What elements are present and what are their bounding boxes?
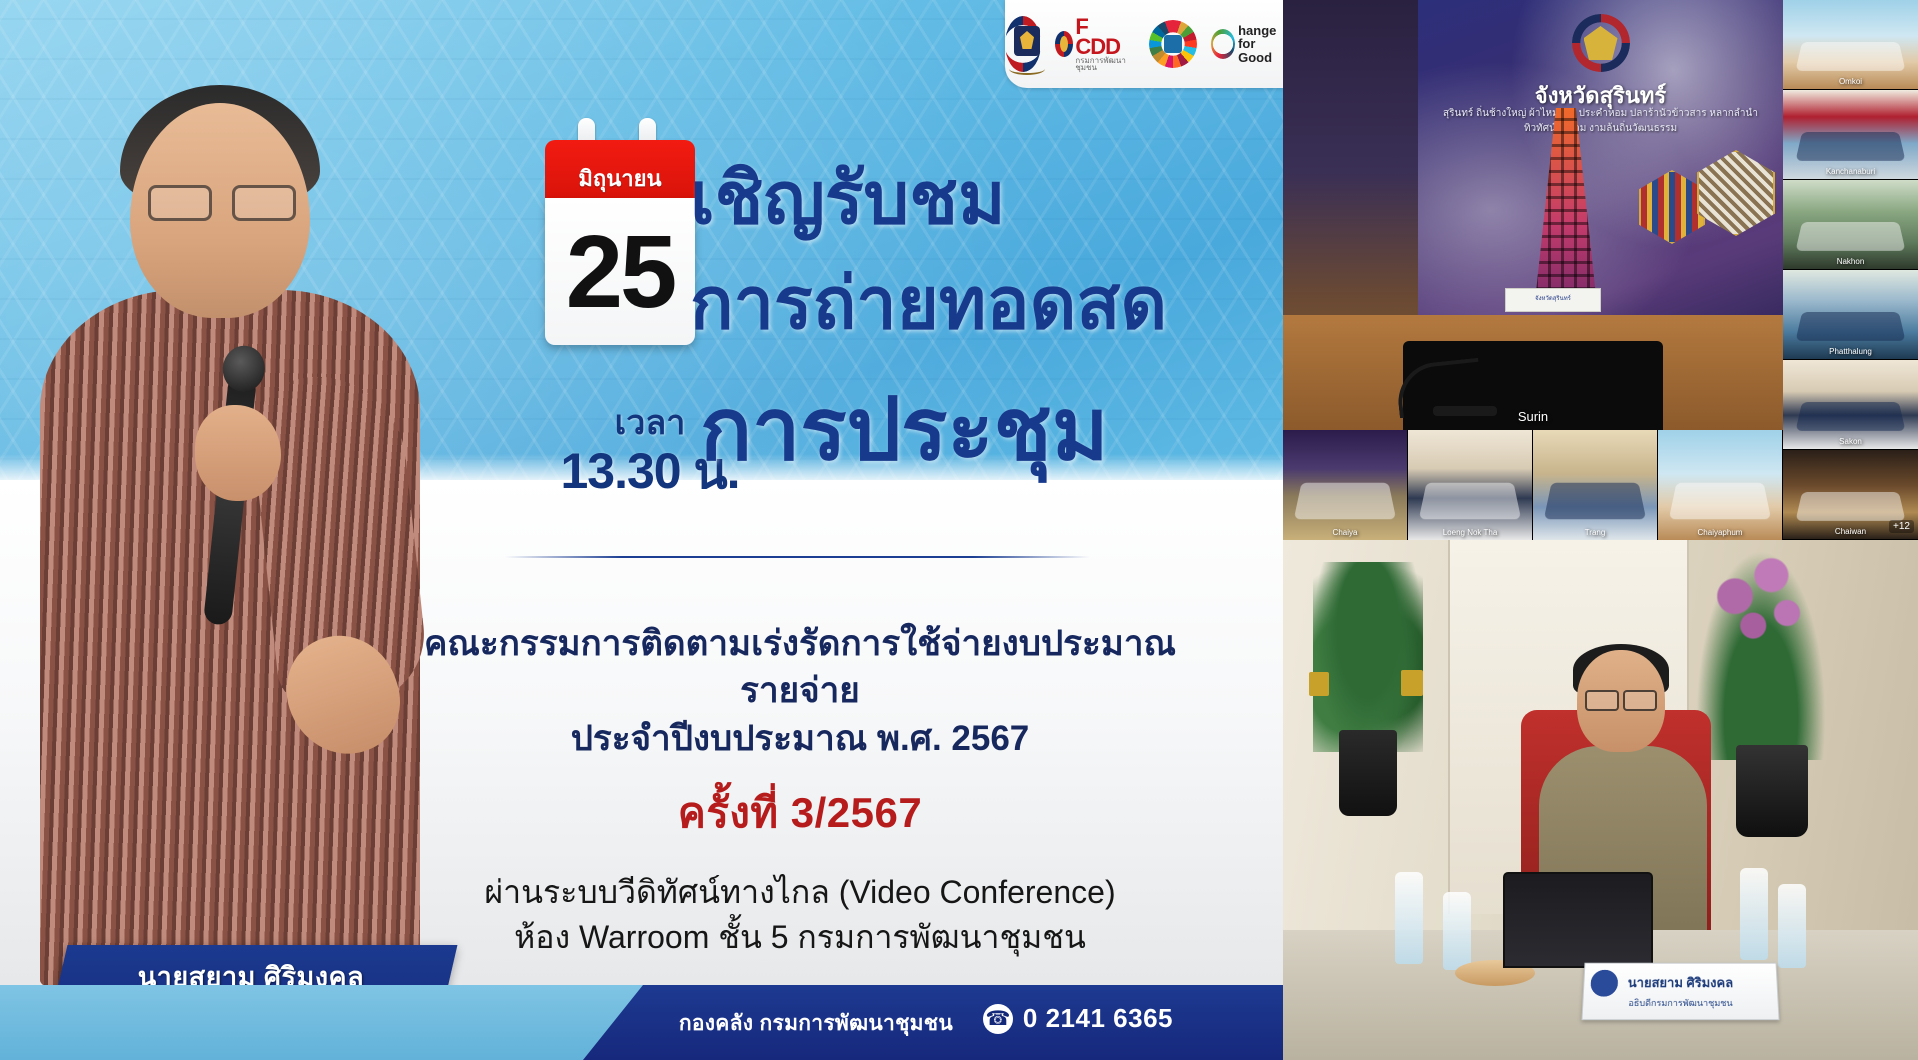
video-tile-column: Omkoi Kanchanaburi Nakhon Phatthalung Sa… <box>1783 0 1918 540</box>
calendar-day: 25 <box>566 220 675 323</box>
video-tile-row: Chaiya Loeng Nok Tha Trang Chaiyaphum <box>1283 430 1783 540</box>
video-tile-label: Chaiya <box>1283 528 1407 537</box>
desk-nameplate: นายสยาม ศิริมงคล อธิบดีกรมการพัฒนาชุมชน <box>1581 963 1779 1020</box>
water-bottle <box>1778 884 1806 968</box>
divider <box>505 556 1090 558</box>
surin-backdrop-sub: สุรินทร์ ถิ่นช้างใหญ่ ผ้าไหมงาม ประคำหอม… <box>1418 106 1783 136</box>
speaker-photo <box>20 75 440 985</box>
orchid-icon <box>1696 550 1826 760</box>
video-tile[interactable]: Kanchanaburi <box>1783 90 1918 180</box>
phone-icon <box>983 1004 1013 1034</box>
water-bottle <box>1740 868 1768 960</box>
headline-meeting: การประชุม <box>700 360 1109 497</box>
video-tile[interactable]: Loeng Nok Tha <box>1408 430 1533 540</box>
glasses-icon <box>148 185 296 217</box>
video-tile-surin[interactable]: จังหวัดสุรินทร์ สุรินทร์ ถิ่นช้างใหญ่ ผ้… <box>1283 0 1783 430</box>
video-tile-label: Omkoi <box>1783 77 1918 86</box>
committee-line-2: ประจำปีงบประมาณ พ.ศ. 2567 <box>420 715 1180 762</box>
footer-organization: กองคลัง กรมการพัฒนาชุมชน <box>679 1007 953 1040</box>
sdg-wheel-icon <box>1149 20 1197 68</box>
plant-icon <box>1313 562 1423 752</box>
video-tile-label: Nakhon <box>1783 257 1918 266</box>
via-line-1: ผ่านระบบวีดิทัศน์ทางไกล (Video Conferenc… <box>420 870 1180 915</box>
laptop-icon <box>1503 872 1653 968</box>
video-tile-label: Loeng Nok Tha <box>1408 528 1532 537</box>
video-tile-label: Sakon <box>1783 437 1918 446</box>
meeting-room-plate: จังหวัดสุรินทร์ <box>1505 288 1601 312</box>
footer-phone-number: 0 2141 6365 <box>1023 1003 1173 1034</box>
poster-body: คณะกรรมการติดตามเร่งรัดการใช้จ่ายงบประมา… <box>420 620 1180 959</box>
video-tile-label: Phatthalung <box>1783 347 1918 356</box>
silk-graphic <box>1639 170 1705 244</box>
committee-line-1: คณะกรรมการติดตามเร่งรัดการใช้จ่ายงบประมา… <box>420 620 1180 715</box>
glasses-icon <box>1585 690 1657 708</box>
water-bottle <box>1395 872 1423 964</box>
tower-graphic <box>1535 108 1597 303</box>
calendar-icon: มิถุนายน 25 <box>545 140 695 345</box>
via-line-2: ห้อง Warroom ชั้น 5 กรมการพัฒนาชุมชน <box>420 915 1180 960</box>
calendar-month: มิถุนายน <box>545 140 695 200</box>
video-tile[interactable]: Chaiwan +12 <box>1783 450 1918 540</box>
cdd-emblem-icon <box>1005 16 1041 72</box>
screenshot-root: F CDD กรมการพัฒนาชุมชน hange for Good <box>0 0 1918 1060</box>
fcdd-logo-icon: F CDD กรมการพัฒนาชุมชน <box>1055 17 1134 71</box>
cfg-label-top: hange <box>1238 24 1283 38</box>
footer-contact: 0 2141 6365 <box>983 1003 1173 1034</box>
video-tile-label: Trang <box>1533 528 1657 537</box>
more-participants-badge[interactable]: +12 <box>1889 520 1914 533</box>
water-bottle <box>1443 892 1471 970</box>
video-tile-speaker[interactable]: นายสยาม ศิริมงคล อธิบดีกรมการพัฒนาชุมชน <box>1283 540 1918 1060</box>
pottery-graphic <box>1697 150 1775 236</box>
cfg-label-bottom: for Good <box>1238 37 1283 64</box>
video-tile[interactable]: Nakhon <box>1783 180 1918 270</box>
headline-livestream: การถ่ายทอดสด <box>690 245 1167 360</box>
video-tile[interactable]: Chaiya <box>1283 430 1408 540</box>
video-tile[interactable]: Trang <box>1533 430 1658 540</box>
video-tile-label: Chaiyaphum <box>1658 528 1782 537</box>
video-tile-label-surin: Surin <box>1283 409 1783 424</box>
video-tile[interactable]: Omkoi <box>1783 0 1918 90</box>
video-tile[interactable]: Chaiyaphum <box>1658 430 1783 540</box>
meeting-round: ครั้งที่ 3/2567 <box>420 780 1180 846</box>
broadcast-poster: F CDD กรมการพัฒนาชุมชน hange for Good <box>0 0 1283 1060</box>
desk-nameplate-title: อธิบดีกรมการพัฒนาชุมชน <box>1628 996 1733 1010</box>
desk-nameplate-name: นายสยาม ศิริมงคล <box>1628 972 1734 993</box>
headline-invite: เชิญรับชม <box>690 140 1006 255</box>
logo-strip: F CDD กรมการพัฒนาชุมชน hange for Good <box>1005 0 1283 88</box>
poster-footer: กองคลัง กรมการพัฒนาชุมชน 0 2141 6365 <box>0 985 1283 1060</box>
video-conference-grid: จังหวัดสุรินทร์ สุรินทร์ ถิ่นช้างใหญ่ ผ้… <box>1283 0 1918 1060</box>
video-tile[interactable]: Sakon <box>1783 360 1918 450</box>
fcdd-sublabel: กรมการพัฒนาชุมชน <box>1075 57 1134 71</box>
video-tile-label: Kanchanaburi <box>1783 167 1918 176</box>
cdd-logo-icon <box>1588 969 1620 1009</box>
fcdd-label: F CDD <box>1075 14 1120 59</box>
video-tile[interactable]: Phatthalung <box>1783 270 1918 360</box>
change-for-good-icon: hange for Good <box>1211 24 1283 65</box>
